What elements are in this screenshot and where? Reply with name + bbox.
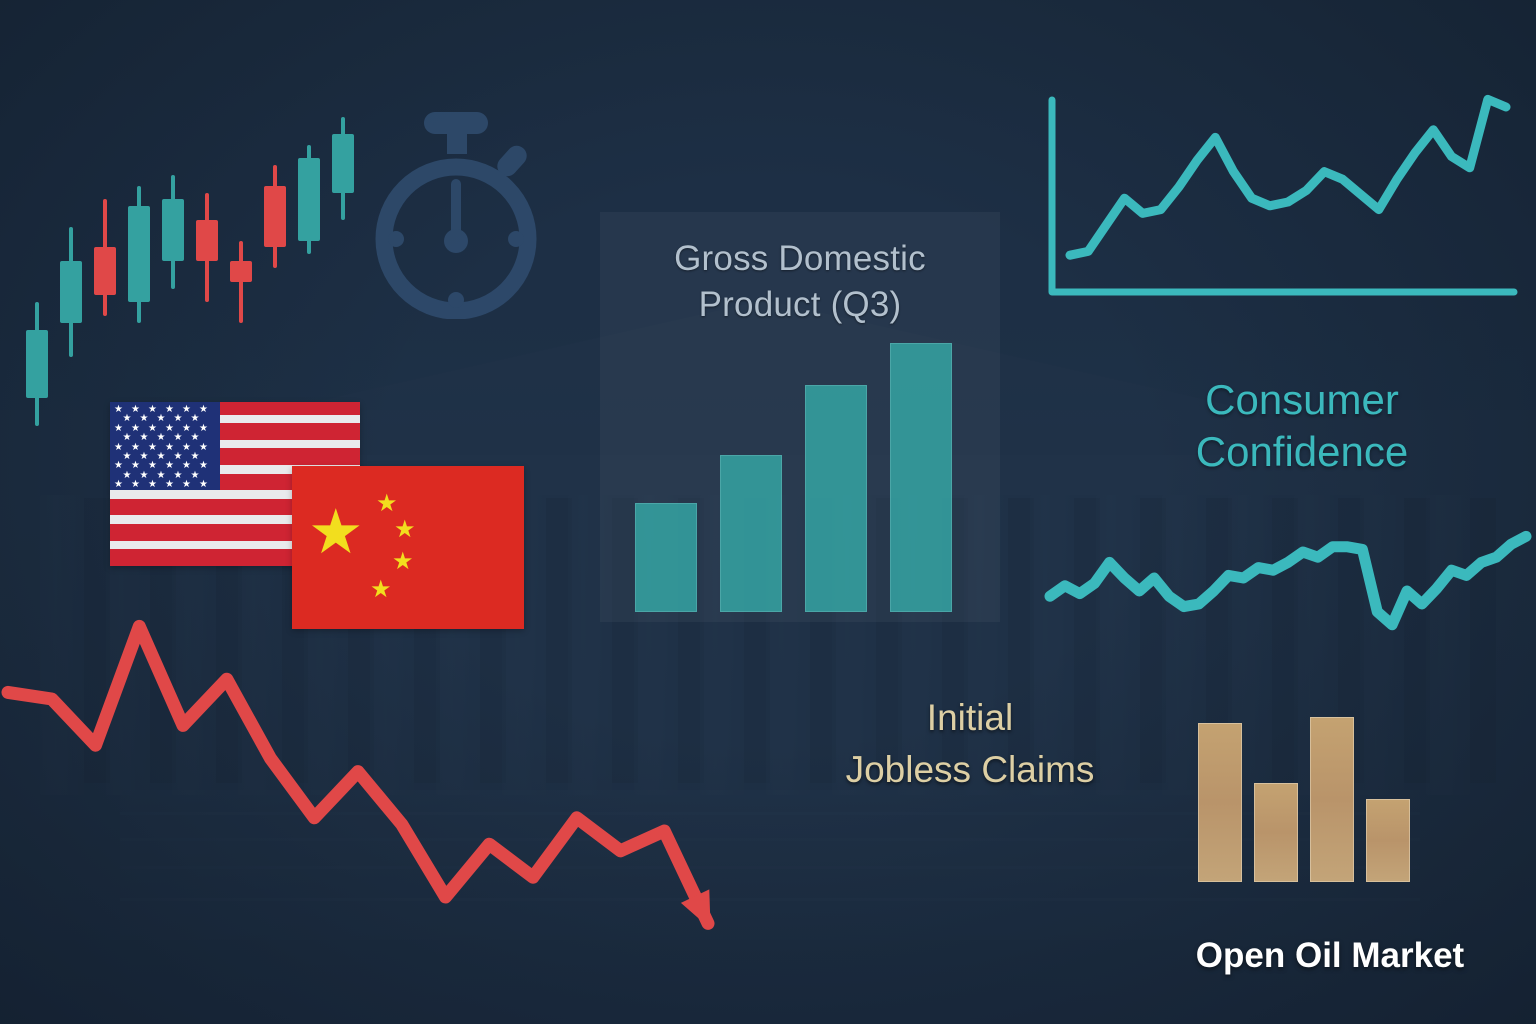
us-flag-star: ★ <box>131 405 140 414</box>
us-flag-star: ★ <box>199 480 208 489</box>
initial-jobless-claims-line-chart <box>0 560 780 960</box>
us-flag-star: ★ <box>148 461 157 470</box>
candlestick-wick <box>239 241 243 323</box>
us-flag-star: ★ <box>165 443 174 452</box>
us-flag-star: ★ <box>191 433 200 442</box>
consumer-confidence-line-2: Confidence <box>1092 426 1512 478</box>
gdp-bar <box>805 385 867 612</box>
us-flag-star: ★ <box>165 480 174 489</box>
us-flag-star: ★ <box>148 480 157 489</box>
us-flag-star: ★ <box>157 433 166 442</box>
market-index-line-chart <box>1040 495 1536 655</box>
us-flag-star: ★ <box>114 461 123 470</box>
china-flag-small-star: ★ <box>376 492 398 516</box>
us-flag-star: ★ <box>182 443 191 452</box>
candlestick-body <box>94 247 116 295</box>
us-flag-star: ★ <box>148 424 157 433</box>
us-flag-star: ★ <box>114 443 123 452</box>
open-oil-market-label: Open Oil Market <box>1120 934 1536 978</box>
consumer-confidence-line-1: Consumer <box>1092 374 1512 426</box>
us-flag-star: ★ <box>199 461 208 470</box>
us-flag-star: ★ <box>114 405 123 414</box>
candlestick-body <box>298 158 320 240</box>
infographic-canvas: ★★★★★★★★★★★★★★★★★★★★★★★★★★★★★★★★★★★★★★★★… <box>0 0 1536 1024</box>
us-flag-star: ★ <box>199 424 208 433</box>
candlestick-body <box>128 206 150 302</box>
us-flag-star: ★ <box>131 480 140 489</box>
us-flag-star: ★ <box>165 424 174 433</box>
gdp-bar <box>890 343 952 612</box>
us-flag-star: ★ <box>123 433 132 442</box>
gdp-title: Gross Domestic Product (Q3) <box>600 236 1000 328</box>
chart-line <box>1070 99 1506 255</box>
us-flag-star: ★ <box>182 405 191 414</box>
open-oil-market-bar-chart <box>1190 700 1420 900</box>
oil-bar <box>1254 783 1298 882</box>
chart-line <box>8 626 708 923</box>
us-flag-star: ★ <box>182 480 191 489</box>
candlestick-body <box>196 220 218 261</box>
us-flag-star: ★ <box>165 461 174 470</box>
oil-bar <box>1198 723 1242 882</box>
us-flag-star: ★ <box>131 461 140 470</box>
oil-bar <box>1310 717 1354 882</box>
us-flag-star: ★ <box>148 405 157 414</box>
consumer-confidence-line-chart <box>1030 80 1530 320</box>
us-flag-star: ★ <box>182 424 191 433</box>
us-flag-star: ★ <box>182 461 191 470</box>
initial-jobless-claims-label: Initial Jobless Claims <box>760 692 1180 796</box>
candlestick-body <box>26 330 48 399</box>
jobless-claims-line-2: Jobless Claims <box>760 744 1180 796</box>
us-flag-canton: ★★★★★★★★★★★★★★★★★★★★★★★★★★★★★★★★★★★★★★★★… <box>110 402 220 490</box>
jobless-claims-line-1: Initial <box>760 692 1180 744</box>
candlestick-body <box>162 199 184 261</box>
us-flag-star: ★ <box>199 443 208 452</box>
us-flag-star: ★ <box>140 433 149 442</box>
us-flag-star: ★ <box>131 443 140 452</box>
us-flag-star: ★ <box>114 424 123 433</box>
consumer-confidence-label: Consumer Confidence <box>1092 374 1512 478</box>
oil-bar <box>1366 799 1410 882</box>
gdp-title-line-1: Gross Domestic <box>600 236 1000 282</box>
candlestick-body <box>60 261 82 323</box>
us-flag-star: ★ <box>131 424 140 433</box>
us-flag-star: ★ <box>114 480 123 489</box>
us-flag-star: ★ <box>165 405 174 414</box>
stopwatch-icon <box>352 104 562 319</box>
candlestick-body <box>264 186 286 248</box>
candlestick-body <box>230 261 252 282</box>
chart-line <box>1050 536 1526 624</box>
china-flag-small-star: ★ <box>394 518 416 542</box>
candlestick-body <box>332 134 354 192</box>
us-flag-star: ★ <box>174 433 183 442</box>
us-flag-star: ★ <box>148 443 157 452</box>
us-flag-star: ★ <box>199 405 208 414</box>
gdp-title-line-2: Product (Q3) <box>600 282 1000 328</box>
china-flag-big-star: ★ <box>308 502 364 564</box>
